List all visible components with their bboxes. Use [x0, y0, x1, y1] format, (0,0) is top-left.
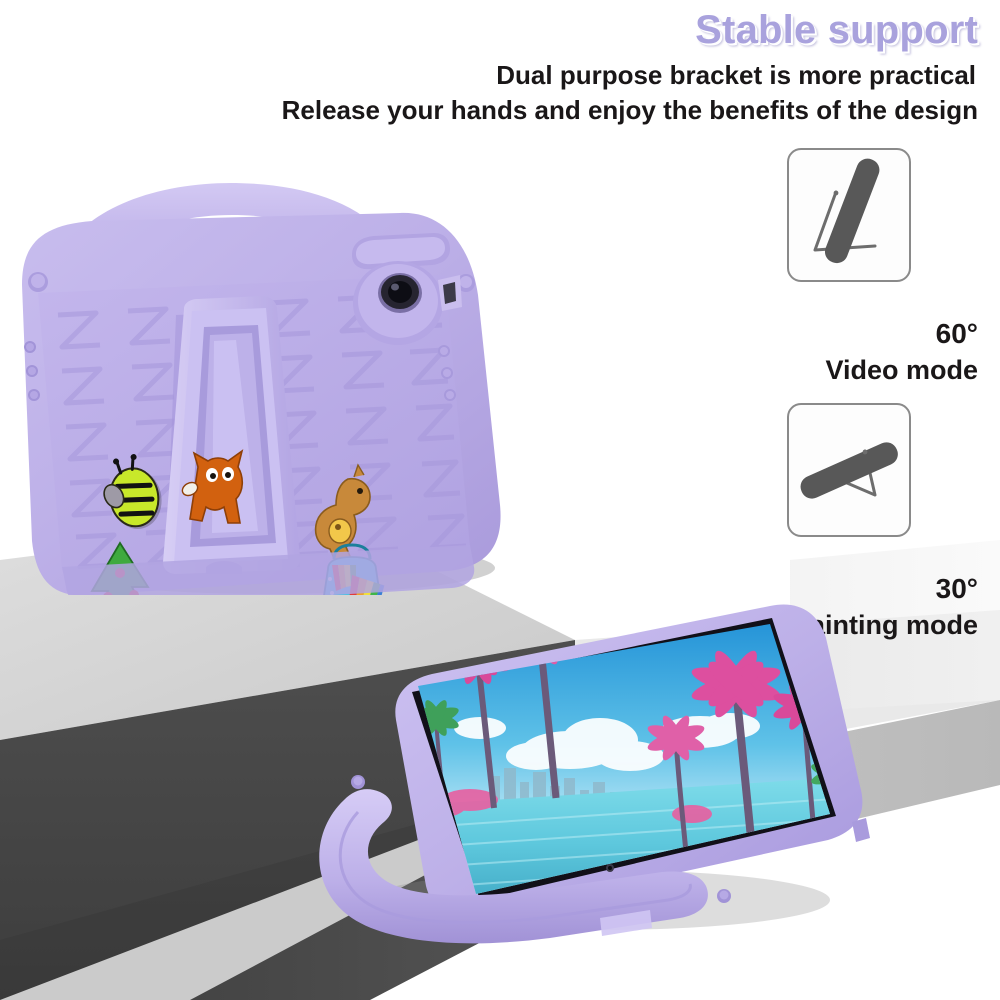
- subtitle-line-1: Dual purpose bracket is more practical: [496, 60, 976, 91]
- mode-label-video: Video mode: [698, 355, 978, 386]
- mode-icon-box-painting: [787, 403, 911, 537]
- side-button: [852, 818, 870, 842]
- tablet-stand-shallow-icon: [789, 405, 909, 535]
- product-marketing-image: Stable support Dual purpose bracket is m…: [0, 0, 1000, 1000]
- mode-icon-box-video: [787, 148, 911, 282]
- kids-tablet-case-front: [300, 600, 880, 960]
- tablet-stand-steep-icon: [789, 150, 909, 280]
- kids-tablet-case-back: [0, 175, 540, 595]
- mode-angle-video: 60°: [778, 318, 978, 350]
- page-title: Stable support: [695, 8, 978, 53]
- subtitle-line-2: Release your hands and enjoy the benefit…: [282, 95, 978, 126]
- kickstand[interactable]: [163, 296, 300, 574]
